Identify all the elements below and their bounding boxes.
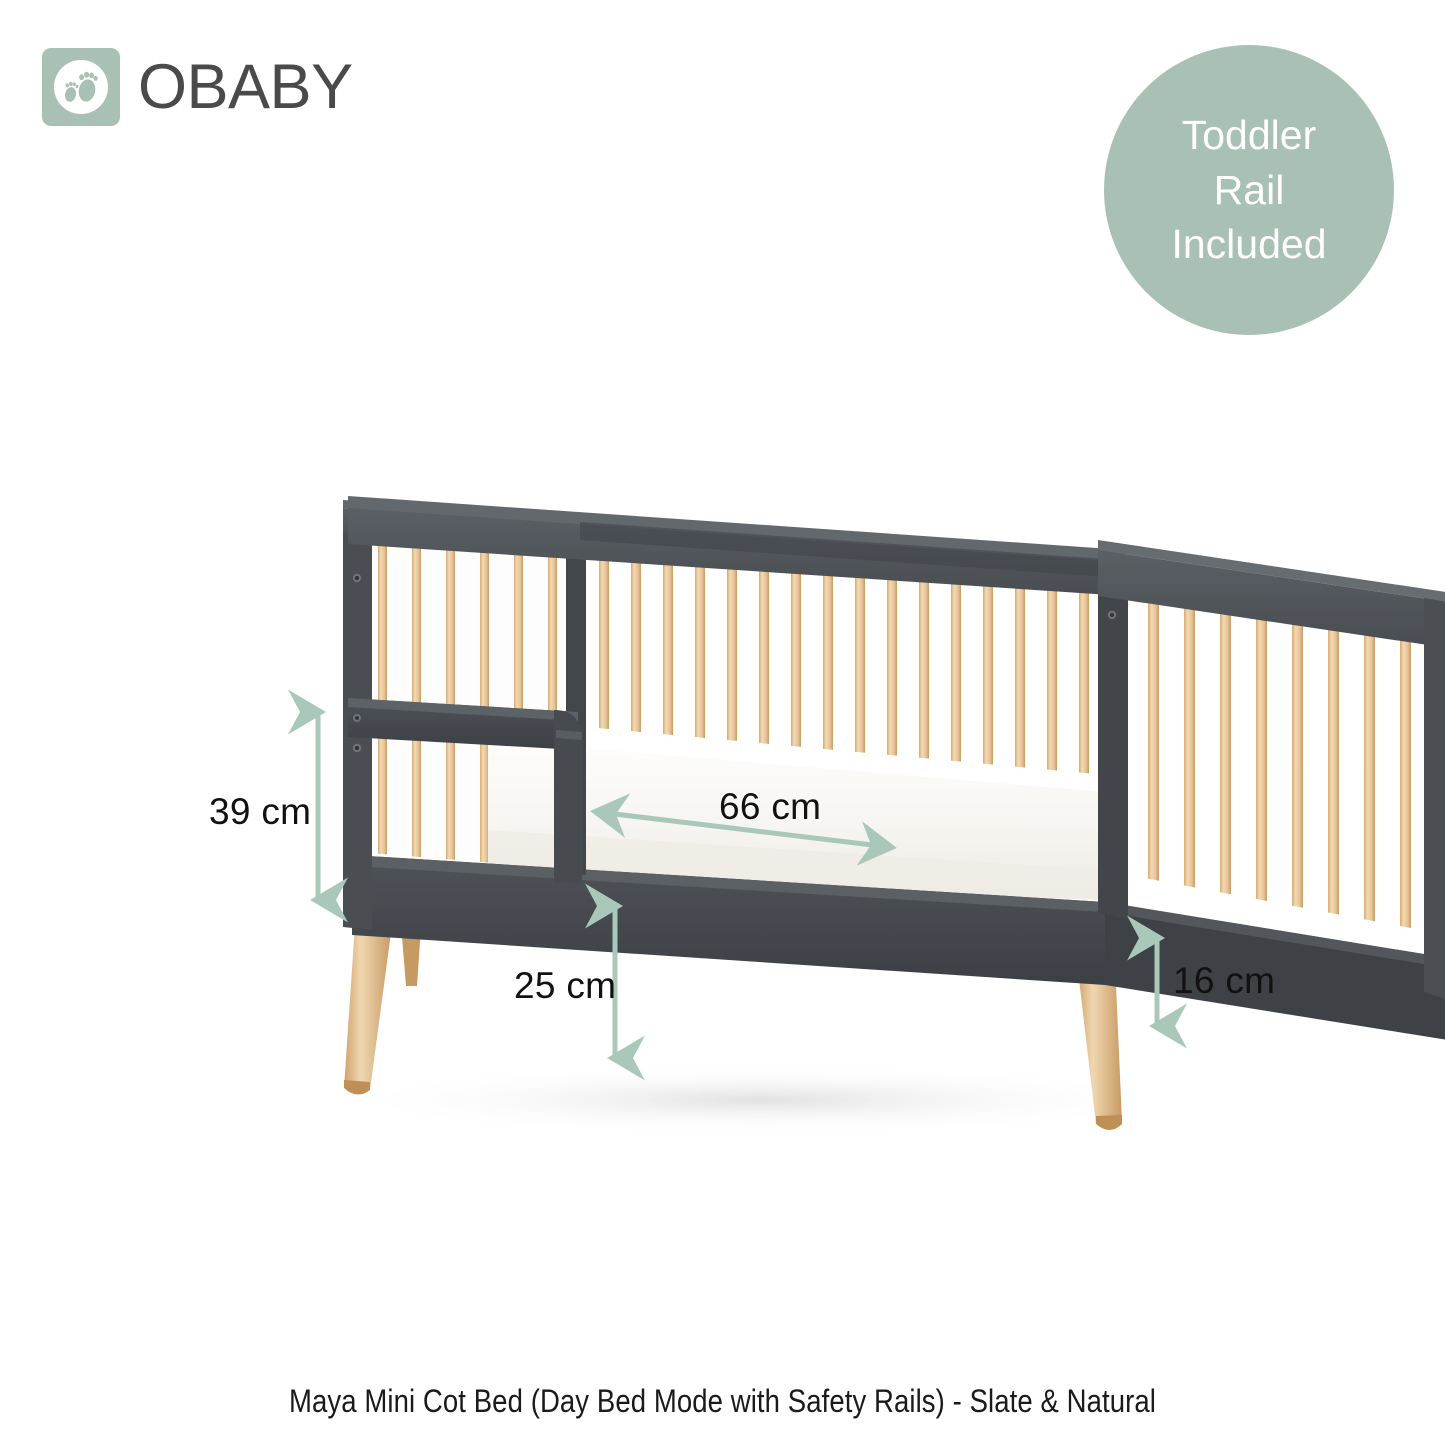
toddler-rail-badge: Toddler Rail Included xyxy=(1104,45,1394,335)
baby-footprints-icon xyxy=(42,48,120,126)
dimension-label-66cm: 66 cm xyxy=(719,788,821,825)
floor-shadow xyxy=(330,1064,1190,1136)
product-image-page: OBABY Toddler Rail Included xyxy=(0,0,1445,1445)
dimension-label-39cm: 39 cm xyxy=(209,793,311,830)
badge-line-3: Included xyxy=(1171,217,1326,272)
dimension-label-25cm: 25 cm xyxy=(514,967,616,1004)
badge-line-2: Rail xyxy=(1214,163,1285,218)
brand-logo: OBABY xyxy=(42,48,353,126)
product-illustration xyxy=(0,400,1445,1160)
badge-line-1: Toddler xyxy=(1182,108,1316,163)
dimension-label-16cm: 16 cm xyxy=(1173,962,1275,999)
product-caption: Maya Mini Cot Bed (Day Bed Mode with Saf… xyxy=(101,1383,1344,1420)
brand-name: OBABY xyxy=(138,56,353,119)
